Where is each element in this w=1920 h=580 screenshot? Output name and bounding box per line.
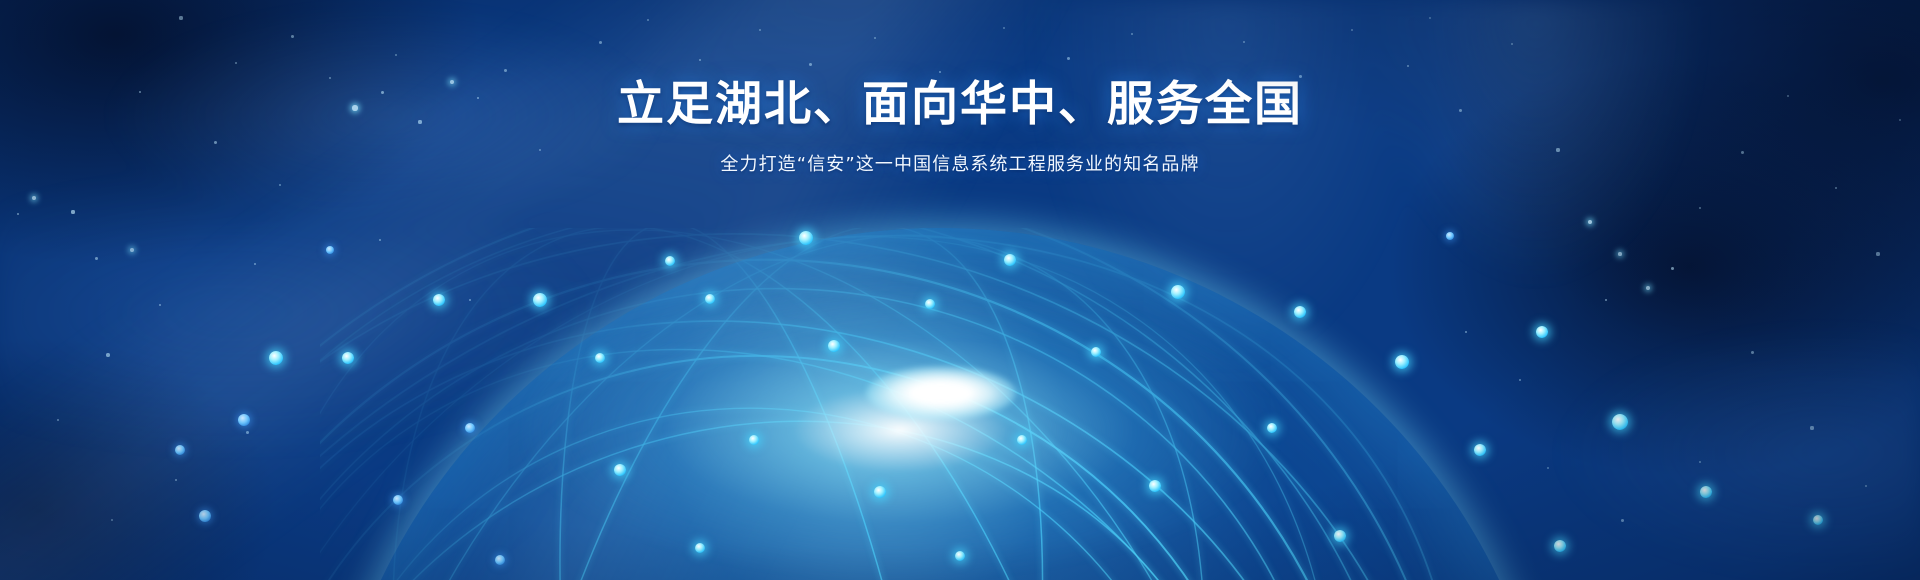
- network-node: [1446, 232, 1454, 240]
- network-node: [1267, 423, 1277, 433]
- network-node: [1171, 285, 1185, 299]
- network-node: [465, 423, 475, 433]
- network-node: [1813, 515, 1823, 525]
- network-node: [342, 352, 354, 364]
- network-node: [1334, 530, 1346, 542]
- network-node: [175, 445, 185, 455]
- network-node: [1149, 480, 1161, 492]
- network-node: [199, 510, 211, 522]
- network-node: [799, 231, 813, 245]
- network-node: [925, 299, 935, 309]
- banner-copy: 立足湖北、面向华中、服务全国 全力打造“信安”这一中国信息系统工程服务业的知名品…: [0, 78, 1920, 177]
- network-node: [874, 486, 886, 498]
- network-node: [1536, 326, 1548, 338]
- network-node: [595, 353, 605, 363]
- network-node: [749, 435, 759, 445]
- network-node: [1017, 435, 1027, 445]
- network-node: [495, 555, 505, 565]
- network-node: [1004, 254, 1016, 266]
- network-node: [695, 543, 705, 553]
- network-node: [1474, 444, 1486, 456]
- network-node: [393, 495, 403, 505]
- network-node: [1612, 414, 1628, 430]
- network-node: [1395, 355, 1409, 369]
- network-node: [433, 294, 445, 306]
- network-node: [1554, 540, 1566, 552]
- network-node: [1091, 347, 1101, 357]
- banner-headline: 立足湖北、面向华中、服务全国: [0, 78, 1920, 133]
- network-node: [269, 351, 283, 365]
- network-node: [533, 293, 547, 307]
- network-node: [238, 414, 250, 426]
- network-node: [955, 551, 965, 561]
- network-node: [1700, 486, 1712, 498]
- network-node: [828, 340, 840, 352]
- network-node: [705, 294, 715, 304]
- banner-subheadline: 全力打造“信安”这一中国信息系统工程服务业的知名品牌: [0, 152, 1920, 177]
- network-node: [326, 246, 334, 254]
- network-node: [665, 256, 675, 266]
- network-node: [614, 464, 626, 476]
- network-node: [1294, 306, 1306, 318]
- hero-banner: 立足湖北、面向华中、服务全国 全力打造“信安”这一中国信息系统工程服务业的知名品…: [0, 0, 1920, 580]
